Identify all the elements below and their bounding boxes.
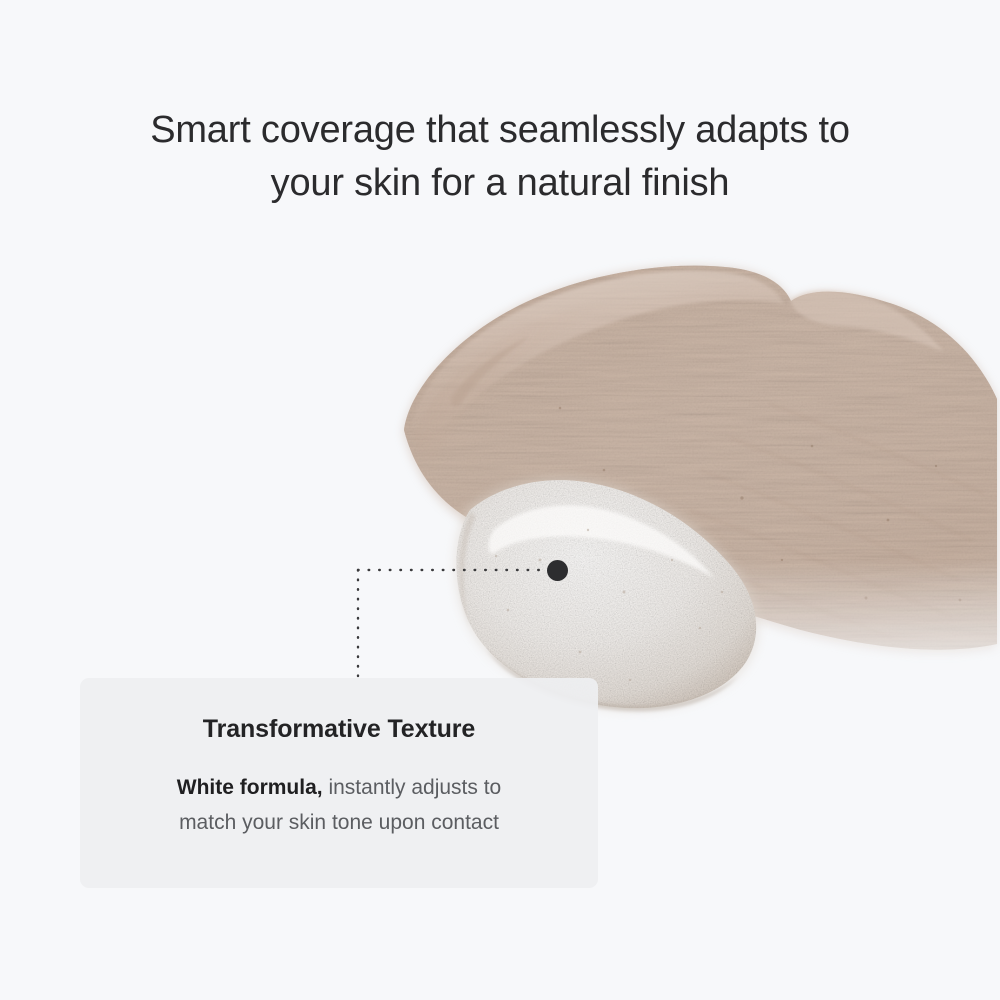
headline-line-1: Smart coverage that seamlessly adapts to <box>0 104 1000 157</box>
callout-card: Transformative Texture White formula, in… <box>80 678 598 888</box>
callout-body-line-1-rest: instantly adjusts to <box>323 776 502 799</box>
callout-title: Transformative Texture <box>80 714 598 744</box>
page-headline: Smart coverage that seamlessly adapts to… <box>0 104 1000 210</box>
callout-connector <box>350 558 576 684</box>
callout-body-line-2: match your skin tone upon contact <box>114 805 564 840</box>
headline-line-2: your skin for a natural finish <box>0 157 1000 210</box>
callout-body: White formula, instantly adjusts to matc… <box>80 770 598 840</box>
hotspot-marker-dot[interactable] <box>547 560 568 581</box>
callout-body-line-1: White formula, instantly adjusts to <box>114 770 564 805</box>
callout-body-lead: White formula, <box>177 776 323 799</box>
product-feature-stage: Smart coverage that seamlessly adapts to… <box>0 0 1000 1000</box>
